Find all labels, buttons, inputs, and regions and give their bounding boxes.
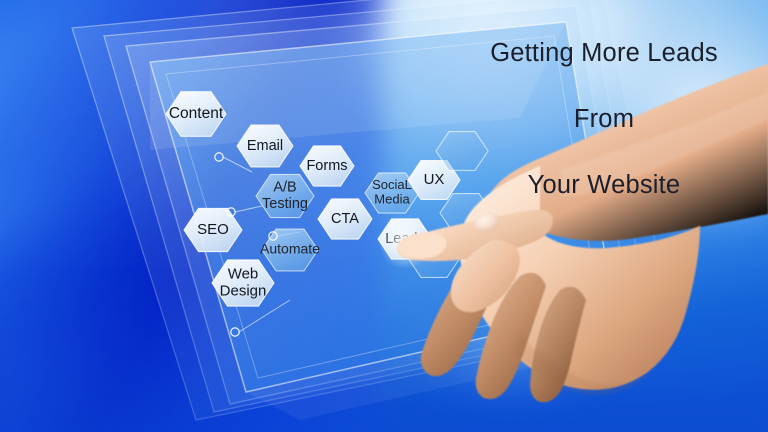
page-title: Getting More Leads From Your Website bbox=[446, 4, 762, 235]
hexagon-ab-testing[interactable]: A/BTesting bbox=[256, 174, 314, 217]
headline-line-3: Your Website bbox=[446, 169, 762, 202]
headline-line-2: From bbox=[446, 103, 762, 136]
hexagon-content[interactable]: Content bbox=[166, 92, 226, 137]
hexagon-web-design[interactable]: WebDesign bbox=[212, 260, 274, 306]
hexagon-cta[interactable]: CTA bbox=[318, 199, 372, 239]
node-lower-left bbox=[231, 328, 239, 336]
hexagon-label: UX bbox=[424, 171, 445, 188]
connector-node-ring bbox=[215, 153, 223, 161]
hexagon-label: Web bbox=[228, 266, 259, 283]
headline-line-1: Getting More Leads bbox=[446, 37, 762, 70]
hexagon-label: Design bbox=[220, 282, 267, 299]
hexagon-label: Media bbox=[374, 192, 410, 207]
node-upper-left bbox=[215, 153, 223, 161]
connector-node-ring bbox=[231, 328, 239, 336]
hexagon-email[interactable]: Email bbox=[237, 125, 293, 167]
hexagon-label: Forms bbox=[306, 158, 347, 174]
hexagon-forms[interactable]: Forms bbox=[300, 146, 354, 186]
hexagon-label: A/B bbox=[273, 180, 296, 196]
touch-glow bbox=[379, 217, 431, 269]
hexagon-label: SociaL bbox=[372, 177, 412, 192]
hexagon-label: Testing bbox=[262, 196, 308, 212]
hexagon-label: Content bbox=[169, 105, 224, 122]
hexagon-label: SEO bbox=[197, 221, 229, 238]
connector-line-1 bbox=[235, 206, 262, 212]
hexagon-label: CTA bbox=[331, 211, 359, 227]
hexagon-label: Automate bbox=[260, 241, 320, 257]
promo-banner: ContentEmailFormsA/BTestingCTASociaLMedi… bbox=[0, 0, 768, 432]
hexagon-label: Email bbox=[247, 138, 283, 154]
